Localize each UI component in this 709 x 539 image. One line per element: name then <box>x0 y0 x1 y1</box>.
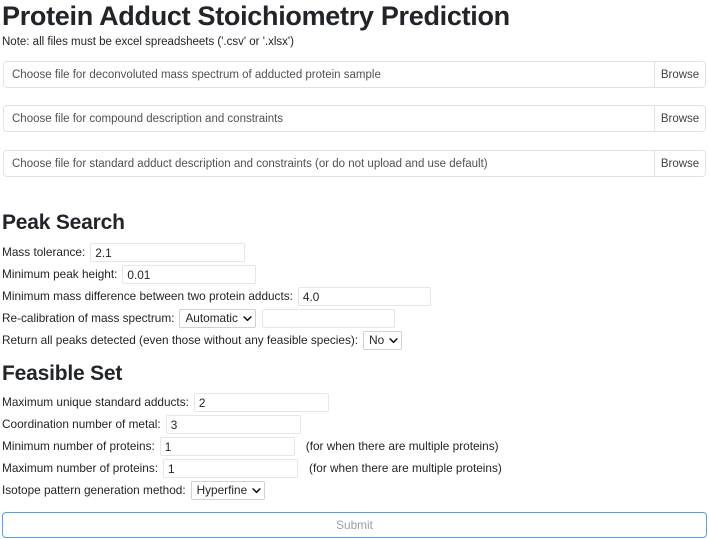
field-max-proteins: Maximum number of proteins: (for when th… <box>2 459 502 478</box>
field-max-unique-standard-adducts: Maximum unique standard adducts: <box>2 393 329 412</box>
label-isotope-method: Isotope pattern generation method: <box>2 481 191 500</box>
field-min-proteins: Minimum number of proteins: (for when th… <box>2 437 499 456</box>
select-return-all-peaks-value: No <box>369 332 384 349</box>
field-isotope-method: Isotope pattern generation method: Hyper… <box>2 481 265 500</box>
label-recalibration: Re-calibration of mass spectrum: <box>2 309 179 328</box>
label-max-proteins: Maximum number of proteins: <box>2 459 163 478</box>
browse-button-standard-adduct[interactable]: Browse <box>654 151 705 176</box>
file-input-mass-spectrum[interactable]: Choose file for deconvoluted mass spectr… <box>3 61 706 88</box>
input-min-proteins[interactable] <box>160 437 295 456</box>
label-coordination-number: Coordination number of metal: <box>2 415 166 434</box>
select-return-all-peaks[interactable]: No <box>363 331 402 350</box>
file-input-standard-adduct-placeholder: Choose file for standard adduct descript… <box>4 151 654 176</box>
label-min-mass-difference: Minimum mass difference between two prot… <box>2 287 298 306</box>
file-input-standard-adduct[interactable]: Choose file for standard adduct descript… <box>3 150 706 177</box>
file-input-compound-description-placeholder: Choose file for compound description and… <box>4 106 654 131</box>
field-min-peak-height: Minimum peak height: <box>2 265 256 284</box>
input-max-proteins[interactable] <box>163 459 298 478</box>
file-format-note: Note: all files must be excel spreadshee… <box>0 30 709 50</box>
select-recalibration-value: Automatic <box>185 310 237 327</box>
hint-min-proteins: (for when there are multiple proteins) <box>295 437 499 456</box>
select-isotope-method[interactable]: Hyperfine <box>191 481 266 500</box>
field-min-mass-difference: Minimum mass difference between two prot… <box>2 287 431 306</box>
label-min-proteins: Minimum number of proteins: <box>2 437 160 456</box>
page-title: Protein Adduct Stoichiometry Prediction <box>0 0 709 30</box>
select-isotope-method-value: Hyperfine <box>197 482 248 499</box>
input-recalibration-extra[interactable] <box>262 309 395 328</box>
chevron-down-icon <box>252 486 261 495</box>
input-mass-tolerance[interactable] <box>90 243 245 262</box>
file-input-compound-description[interactable]: Choose file for compound description and… <box>3 105 706 132</box>
file-input-mass-spectrum-placeholder: Choose file for deconvoluted mass spectr… <box>4 62 654 87</box>
input-coordination-number[interactable] <box>166 415 301 434</box>
field-return-all-peaks: Return all peaks detected (even those wi… <box>2 331 402 350</box>
section-heading-peak-search: Peak Search <box>2 211 125 235</box>
app-page: Protein Adduct Stoichiometry Prediction … <box>0 0 709 539</box>
label-min-peak-height: Minimum peak height: <box>2 265 122 284</box>
field-coordination-number: Coordination number of metal: <box>2 415 301 434</box>
submit-button[interactable]: Submit <box>2 512 707 538</box>
hint-max-proteins: (for when there are multiple proteins) <box>298 459 502 478</box>
label-max-unique-standard-adducts: Maximum unique standard adducts: <box>2 393 194 412</box>
chevron-down-icon <box>389 336 398 345</box>
input-min-peak-height[interactable] <box>122 265 256 284</box>
section-heading-feasible-set: Feasible Set <box>2 362 122 386</box>
chevron-down-icon <box>243 314 252 323</box>
field-mass-tolerance: Mass tolerance: <box>2 243 245 262</box>
label-mass-tolerance: Mass tolerance: <box>2 243 90 262</box>
select-recalibration[interactable]: Automatic <box>179 309 255 328</box>
input-min-mass-difference[interactable] <box>298 287 431 306</box>
field-recalibration: Re-calibration of mass spectrum: Automat… <box>2 309 395 328</box>
label-return-all-peaks: Return all peaks detected (even those wi… <box>2 331 363 350</box>
input-max-unique-standard-adducts[interactable] <box>194 393 329 412</box>
browse-button-mass-spectrum[interactable]: Browse <box>654 62 705 87</box>
browse-button-compound-description[interactable]: Browse <box>654 106 705 131</box>
